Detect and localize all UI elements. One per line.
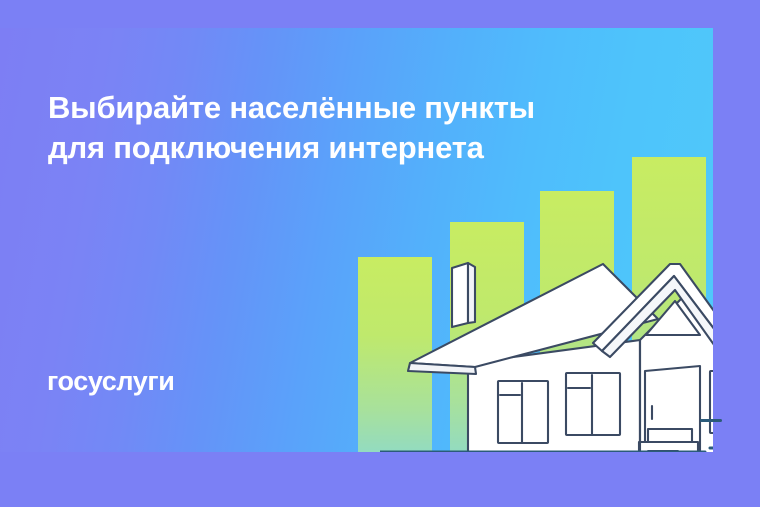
gosuslugi-logo: госуслуги	[47, 366, 174, 396]
page-title: Выбирайте населённые пункты для подключе…	[48, 88, 608, 168]
ground-line-extension	[700, 419, 722, 422]
gosuslugi-promo-banner: Выбирайте населённые пункты для подключе…	[0, 0, 760, 507]
house-illustration	[380, 243, 713, 452]
steps	[639, 429, 698, 452]
window-right	[566, 373, 620, 435]
window-side	[710, 371, 713, 433]
window-left	[498, 381, 548, 443]
chimney	[452, 263, 475, 327]
